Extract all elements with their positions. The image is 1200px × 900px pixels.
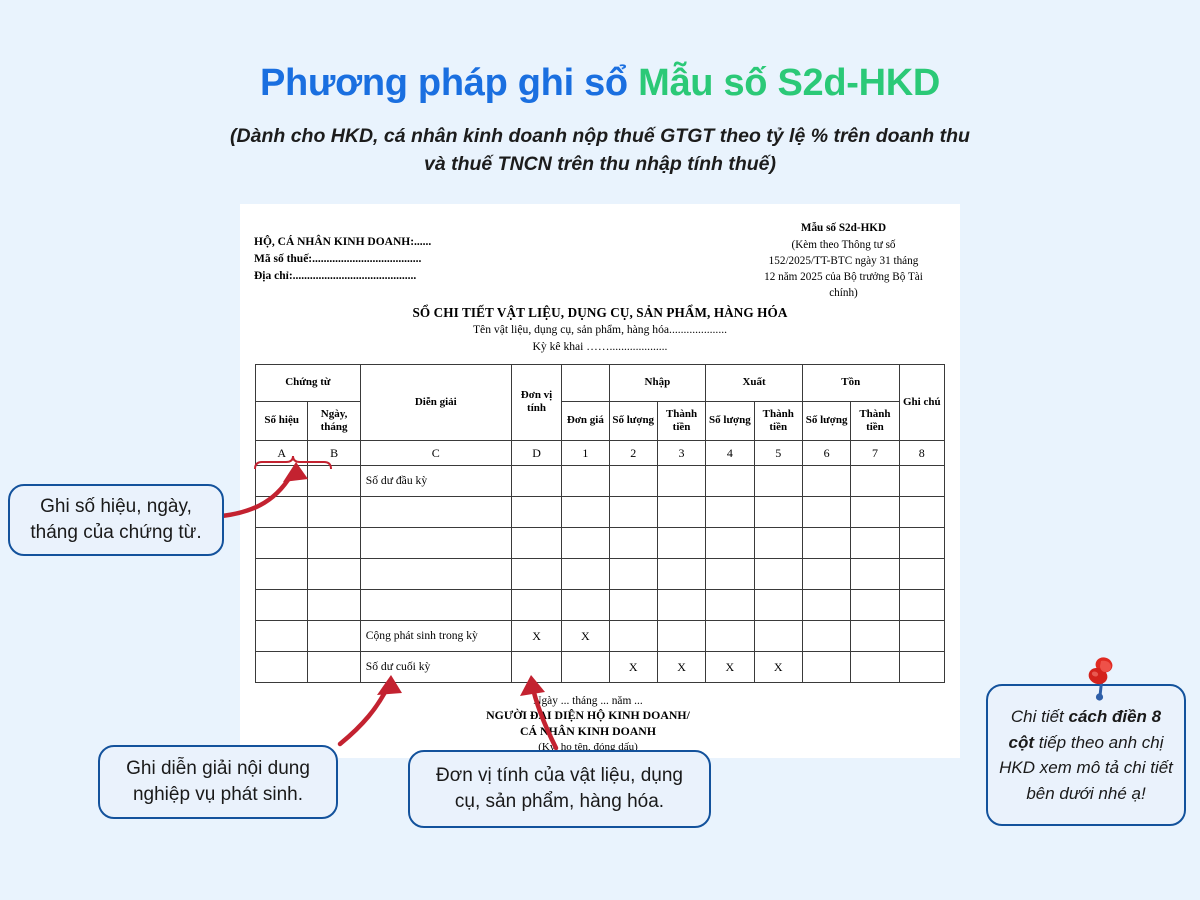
cell-ton-tt bbox=[851, 620, 899, 651]
form-ref-line-2: 152/2025/TT-BTC ngày 31 tháng bbox=[741, 254, 946, 270]
page-title: Phương pháp ghi sổ Mẫu số S2d-HKD bbox=[0, 62, 1200, 106]
cell-nhap-sl bbox=[609, 620, 657, 651]
cell-ghi-chu bbox=[899, 589, 944, 620]
table-row bbox=[256, 527, 945, 558]
cell-so-hieu bbox=[256, 589, 308, 620]
cell-xuat-tt: X bbox=[754, 651, 802, 682]
cell-nhap-tt bbox=[657, 558, 705, 589]
ledger-table-wrapper: Chứng từ Diễn giải Đơn vị tính Nhập Xuất… bbox=[255, 364, 945, 683]
header-ngay-thang: Ngày, tháng bbox=[308, 401, 360, 440]
callout-chung-tu: Ghi số hiệu, ngày, tháng của chứng từ. bbox=[8, 484, 224, 556]
callout-dien-giai: Ghi diễn giải nội dung nghiệp vụ phát si… bbox=[98, 745, 338, 819]
cell-xuat-sl bbox=[706, 527, 754, 558]
cell-dien-giai: Số dư đầu kỳ bbox=[360, 465, 511, 496]
letter-cell: 7 bbox=[851, 440, 899, 465]
document-subtitle-period: Kỳ kê khai …….................... bbox=[240, 338, 960, 355]
callout-note: Chi tiết cách điền 8 cột tiếp theo anh c… bbox=[986, 684, 1186, 826]
header-xuat: Xuất bbox=[706, 364, 803, 401]
page-subtitle-line-2: và thuế TNCN trên thu nhập tính thuế) bbox=[0, 150, 1200, 178]
header-nhap-thanh-tien: Thành tiền bbox=[657, 401, 705, 440]
cell-ton-tt bbox=[851, 558, 899, 589]
page-subtitle-line-1: (Dành cho HKD, cá nhân kinh doanh nộp th… bbox=[0, 122, 1200, 150]
cell-so-hieu bbox=[256, 496, 308, 527]
cell-dien-giai: Cộng phát sinh trong kỳ bbox=[360, 620, 511, 651]
letter-cell: 6 bbox=[802, 440, 850, 465]
cell-dvt bbox=[511, 558, 561, 589]
table-row bbox=[256, 496, 945, 527]
cell-xuat-sl bbox=[706, 465, 754, 496]
cell-nhap-sl bbox=[609, 558, 657, 589]
cell-don-gia bbox=[562, 589, 609, 620]
header-ton: Tồn bbox=[802, 364, 899, 401]
letter-cell: 8 bbox=[899, 440, 944, 465]
cell-ghi-chu bbox=[899, 527, 944, 558]
cell-xuat-tt bbox=[754, 589, 802, 620]
table-row: Số dư cuối kỳ X X X X bbox=[256, 651, 945, 682]
cell-ton-sl bbox=[802, 620, 850, 651]
letter-cell: 4 bbox=[706, 440, 754, 465]
cell-dien-giai bbox=[360, 496, 511, 527]
header-so-hieu: Số hiệu bbox=[256, 401, 308, 440]
letter-cell: C bbox=[360, 440, 511, 465]
cell-ngay-thang bbox=[308, 651, 360, 682]
document-form-reference: Mẫu số S2d-HKD (Kèm theo Thông tư số 152… bbox=[741, 221, 946, 302]
cell-xuat-tt bbox=[754, 558, 802, 589]
header-don-gia-spacer bbox=[562, 364, 609, 401]
header-ghi-chu: Ghi chú bbox=[899, 364, 944, 440]
cell-xuat-tt bbox=[754, 620, 802, 651]
ledger-table-body: A B C D 1 2 3 4 5 6 7 8 Số dư đầu kỳ bbox=[256, 440, 945, 682]
letter-cell: A bbox=[256, 440, 308, 465]
letter-cell: 1 bbox=[562, 440, 609, 465]
form-ref-line-1: (Kèm theo Thông tư số bbox=[741, 238, 946, 254]
letter-cell: 3 bbox=[657, 440, 705, 465]
table-row: Cộng phát sinh trong kỳ X X bbox=[256, 620, 945, 651]
header-dien-giai: Diễn giải bbox=[360, 364, 511, 440]
page-title-accent: Mẫu số S2d-HKD bbox=[638, 62, 940, 104]
header-xuat-thanh-tien: Thành tiền bbox=[754, 401, 802, 440]
cell-don-gia: X bbox=[562, 620, 609, 651]
cell-ngay-thang bbox=[308, 496, 360, 527]
ledger-table: Chứng từ Diễn giải Đơn vị tính Nhập Xuất… bbox=[255, 364, 945, 683]
cell-ngay-thang bbox=[308, 527, 360, 558]
cell-dien-giai bbox=[360, 527, 511, 558]
cell-ton-tt bbox=[851, 465, 899, 496]
cell-ghi-chu bbox=[899, 558, 944, 589]
cell-ton-tt bbox=[851, 496, 899, 527]
document-header: HỘ, CÁ NHÂN KINH DOANH:...... Mã số thuế… bbox=[240, 204, 960, 299]
document-title: SỔ CHI TIẾT VẬT LIỆU, DỤNG CỤ, SẢN PHẨM,… bbox=[240, 305, 960, 321]
cell-xuat-sl bbox=[706, 589, 754, 620]
cell-nhap-tt bbox=[657, 465, 705, 496]
cell-xuat-tt bbox=[754, 527, 802, 558]
ledger-table-head: Chứng từ Diễn giải Đơn vị tính Nhập Xuất… bbox=[256, 364, 945, 440]
letter-cell: 2 bbox=[609, 440, 657, 465]
table-row: Số dư đầu kỳ bbox=[256, 465, 945, 496]
callout-dien-giai-text: Ghi diễn giải nội dung nghiệp vụ phát si… bbox=[100, 750, 336, 814]
cell-dvt bbox=[511, 527, 561, 558]
cell-dien-giai bbox=[360, 589, 511, 620]
header-chung-tu: Chứng từ bbox=[256, 364, 361, 401]
cell-so-hieu bbox=[256, 558, 308, 589]
document-entity-block: HỘ, CÁ NHÂN KINH DOANH:...... Mã số thuế… bbox=[254, 234, 431, 285]
callout-don-vi-tinh-text: Đơn vị tính của vật liệu, dụng cụ, sản p… bbox=[410, 757, 709, 821]
cell-dien-giai: Số dư cuối kỳ bbox=[360, 651, 511, 682]
header-ton-thanh-tien: Thành tiền bbox=[851, 401, 899, 440]
page-header: Phương pháp ghi sổ Mẫu số S2d-HKD (Dành … bbox=[0, 62, 1200, 178]
cell-ton-sl bbox=[802, 651, 850, 682]
document-subtitle-material: Tên vật liệu, dụng cụ, sản phẩm, hàng hó… bbox=[240, 321, 960, 338]
cell-dien-giai bbox=[360, 558, 511, 589]
cell-dvt: X bbox=[511, 620, 561, 651]
form-ref-line-3: 12 năm 2025 của Bộ trưởng Bộ Tài bbox=[741, 270, 946, 286]
table-row bbox=[256, 589, 945, 620]
cell-ton-sl bbox=[802, 527, 850, 558]
cell-ngay-thang bbox=[308, 465, 360, 496]
form-ref-line-4: chính) bbox=[741, 286, 946, 302]
cell-don-gia bbox=[562, 651, 609, 682]
cell-ngay-thang bbox=[308, 620, 360, 651]
header-nhap: Nhập bbox=[609, 364, 706, 401]
cell-ton-sl bbox=[802, 465, 850, 496]
cell-nhap-tt bbox=[657, 589, 705, 620]
cell-don-gia bbox=[562, 496, 609, 527]
cell-xuat-tt bbox=[754, 465, 802, 496]
cell-ngay-thang bbox=[308, 589, 360, 620]
form-code: Mẫu số S2d-HKD bbox=[741, 221, 946, 237]
address-line: Địa chỉ:................................… bbox=[254, 268, 431, 285]
entity-name-line: HỘ, CÁ NHÂN KINH DOANH:...... bbox=[254, 234, 431, 251]
header-don-vi-tinh: Đơn vị tính bbox=[511, 364, 561, 440]
signature-role-line-2: CÁ NHÂN KINH DOANH bbox=[240, 724, 936, 740]
cell-don-gia bbox=[562, 527, 609, 558]
cell-nhap-tt bbox=[657, 620, 705, 651]
cell-ton-sl bbox=[802, 558, 850, 589]
header-don-gia: Đơn giá bbox=[562, 401, 609, 440]
cell-ton-tt bbox=[851, 651, 899, 682]
cell-ngay-thang bbox=[308, 558, 360, 589]
pushpin-icon bbox=[1078, 652, 1124, 702]
letter-cell: 5 bbox=[754, 440, 802, 465]
cell-nhap-sl bbox=[609, 465, 657, 496]
cell-nhap-tt bbox=[657, 496, 705, 527]
callout-don-vi-tinh: Đơn vị tính của vật liệu, dụng cụ, sản p… bbox=[408, 750, 711, 828]
table-row bbox=[256, 558, 945, 589]
cell-nhap-sl: X bbox=[609, 651, 657, 682]
page-title-primary: Phương pháp ghi sổ bbox=[260, 62, 638, 104]
callout-note-prefix: Chi tiết bbox=[1011, 707, 1069, 726]
document-panel: HỘ, CÁ NHÂN KINH DOANH:...... Mã số thuế… bbox=[240, 204, 960, 758]
cell-nhap-sl bbox=[609, 527, 657, 558]
letter-cell: D bbox=[511, 440, 561, 465]
table-header-row-group: Chứng từ Diễn giải Đơn vị tính Nhập Xuất… bbox=[256, 364, 945, 401]
callout-note-text: Chi tiết cách điền 8 cột tiếp theo anh c… bbox=[988, 700, 1184, 810]
cell-xuat-sl: X bbox=[706, 651, 754, 682]
cell-don-gia bbox=[562, 558, 609, 589]
page-subtitle: (Dành cho HKD, cá nhân kinh doanh nộp th… bbox=[0, 122, 1200, 179]
cell-ghi-chu bbox=[899, 465, 944, 496]
cell-nhap-sl bbox=[609, 496, 657, 527]
signature-role-line-1: NGƯỜI ĐẠI DIỆN HỘ KINH DOANH/ bbox=[240, 708, 936, 724]
document-title-block: SỔ CHI TIẾT VẬT LIỆU, DỤNG CỤ, SẢN PHẨM,… bbox=[240, 305, 960, 356]
cell-ghi-chu bbox=[899, 620, 944, 651]
header-nhap-so-luong: Số lượng bbox=[609, 401, 657, 440]
cell-xuat-sl bbox=[706, 620, 754, 651]
table-header-row-sub: Số hiệu Ngày, tháng Đơn giá Số lượng Thà… bbox=[256, 401, 945, 440]
tax-code-line: Mã số thuế:.............................… bbox=[254, 251, 431, 268]
table-letter-row: A B C D 1 2 3 4 5 6 7 8 bbox=[256, 440, 945, 465]
cell-so-hieu bbox=[256, 465, 308, 496]
cell-xuat-sl bbox=[706, 496, 754, 527]
callout-chung-tu-text: Ghi số hiệu, ngày, tháng của chứng từ. bbox=[10, 488, 222, 552]
cell-dvt bbox=[511, 651, 561, 682]
cell-dvt bbox=[511, 465, 561, 496]
cell-so-hieu bbox=[256, 651, 308, 682]
header-xuat-so-luong: Số lượng bbox=[706, 401, 754, 440]
cell-dvt bbox=[511, 589, 561, 620]
cell-ton-tt bbox=[851, 527, 899, 558]
cell-dvt bbox=[511, 496, 561, 527]
cell-so-hieu bbox=[256, 527, 308, 558]
cell-ton-sl bbox=[802, 496, 850, 527]
cell-xuat-tt bbox=[754, 496, 802, 527]
cell-ghi-chu bbox=[899, 651, 944, 682]
cell-ghi-chu bbox=[899, 496, 944, 527]
cell-nhap-sl bbox=[609, 589, 657, 620]
cell-nhap-tt: X bbox=[657, 651, 705, 682]
letter-cell: B bbox=[308, 440, 360, 465]
cell-don-gia bbox=[562, 465, 609, 496]
cell-so-hieu bbox=[256, 620, 308, 651]
cell-xuat-sl bbox=[706, 558, 754, 589]
signature-block: Ngày ... tháng ... năm ... NGƯỜI ĐẠI DIỆ… bbox=[240, 695, 960, 753]
cell-nhap-tt bbox=[657, 527, 705, 558]
signature-date-line: Ngày ... tháng ... năm ... bbox=[240, 695, 936, 707]
header-ton-so-luong: Số lượng bbox=[802, 401, 850, 440]
cell-ton-tt bbox=[851, 589, 899, 620]
cell-ton-sl bbox=[802, 589, 850, 620]
